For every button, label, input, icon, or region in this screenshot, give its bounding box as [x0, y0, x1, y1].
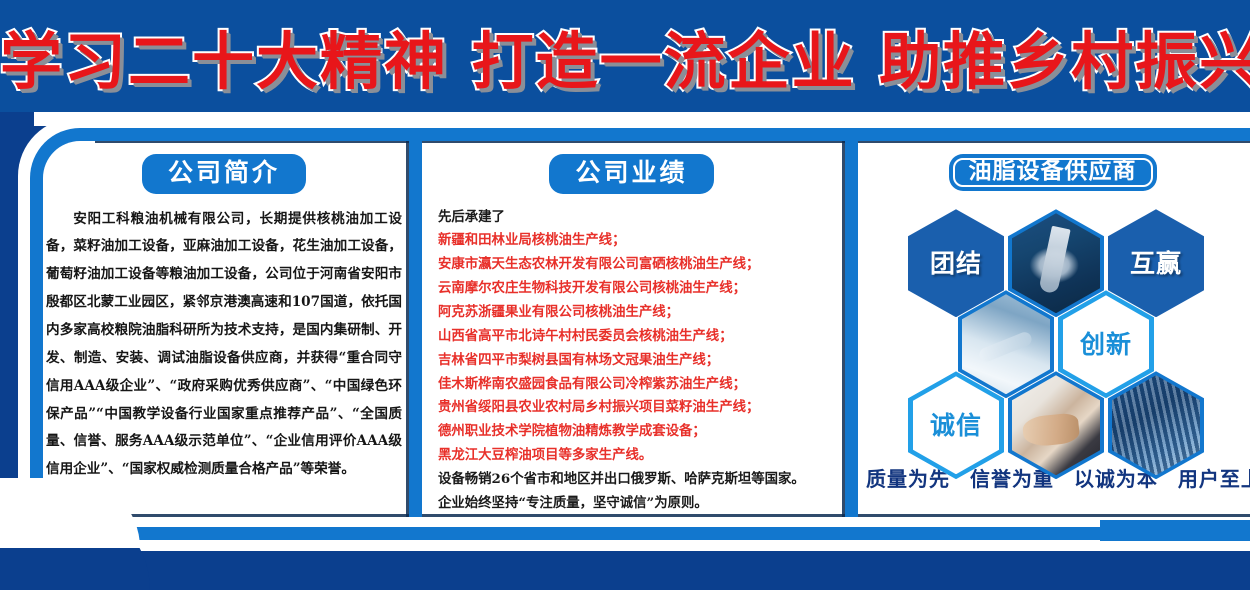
performance-item: 黑龙江大豆榨油项目等多家生产线。 — [438, 444, 835, 468]
hexagon-grid: 团结 互赢 创新 诚信 — [860, 203, 1245, 449]
performance-item: 安康市瀛天生态农林开发有限公司富硒核桃油生产线； — [438, 253, 835, 277]
frame-shadow-top — [95, 141, 1250, 143]
company-profile-badge-wrap: 公司简介 — [44, 154, 404, 194]
supplier-badge-wrap: 油脂设备供应商 — [860, 154, 1245, 191]
blue-accent-bottom-extension — [1100, 520, 1250, 542]
bottom-navy-strip — [0, 551, 1250, 590]
performance-item: 德州职业技术学院植物油精炼教学成套设备； — [438, 420, 835, 444]
panel-company-performance: 公司业绩 先后承建了 新疆和田林业局核桃油生产线； 安康市瀛天生态农林开发有限公… — [424, 154, 839, 510]
slogan-part-1: 质量为先 — [866, 467, 950, 491]
panel-supplier-values: 油脂设备供应商 团结 互赢 创新 诚信 — [860, 154, 1245, 510]
header-banner: 学习二十大精神 打造一流企业 助推乡村振兴 — [0, 0, 1250, 112]
supplier-badge: 油脂设备供应商 — [949, 154, 1157, 191]
white-card-top-extension — [34, 112, 1250, 126]
panel-company-profile: 公司简介 安阳工科粮油机械有限公司，长期提供核桃油加工设备，菜籽油加工设备，亚麻… — [44, 154, 404, 510]
company-performance-badge: 公司业绩 — [549, 154, 713, 194]
hex-label-huying: 互赢 — [1130, 251, 1182, 276]
performance-footer: 企业始终坚持“专注质量，坚守诚信”为原则。 — [438, 492, 835, 516]
performance-item: 山西省高平市北诗午村村民委员会核桃油生产线； — [438, 325, 835, 349]
skyscraper-image — [1112, 375, 1200, 475]
slogan-part-4: 用户至上 — [1178, 467, 1250, 491]
performance-item: 云南摩尔农庄生物科技开发有限公司核桃油生产线； — [438, 277, 835, 301]
performance-list: 先后承建了 新疆和田林业局核桃油生产线； 安康市瀛天生态农林开发有限公司富硒核桃… — [438, 206, 835, 516]
rocket-launch-image — [962, 294, 1050, 394]
performance-item: 贵州省绥阳县农业农村局乡村振兴项目菜籽油生产线； — [438, 396, 835, 420]
hex-label-chuangxin: 创新 — [1080, 332, 1132, 357]
performance-item: 吉林省四平市梨树县国有林场文冠果油生产线； — [438, 349, 835, 373]
performance-footer: 设备畅销26个省市和地区并出口俄罗斯、哈萨克斯坦等国家。 — [438, 468, 835, 492]
company-profile-body: 安阳工科粮油机械有限公司，长期提供核桃油加工设备，菜籽油加工设备，亚麻油加工设备… — [46, 206, 402, 485]
panel-divider-left — [409, 141, 422, 517]
header-title: 学习二十大精神 打造一流企业 助推乡村振兴 — [0, 11, 1250, 101]
bottom-white-strip — [0, 541, 1250, 551]
performance-item: 阿克苏浙疆果业有限公司核桃油生产线； — [438, 301, 835, 325]
hex-label-chengxin: 诚信 — [930, 413, 982, 438]
aircraft-carrier-image — [1012, 213, 1100, 313]
performance-item: 新疆和田林业局核桃油生产线； — [438, 229, 835, 253]
hex-label-tuanjie: 团结 — [930, 251, 982, 276]
panel-divider-right — [845, 141, 858, 517]
company-performance-badge-wrap: 公司业绩 — [424, 154, 839, 194]
handshake-image — [1012, 375, 1100, 475]
poster-root: 学习二十大精神 打造一流企业 助推乡村振兴 公司简介 安阳工科粮油机械有限公司，… — [0, 0, 1250, 590]
performance-item: 佳木斯桦南农盛园食品有限公司冷榨紫苏油生产线； — [438, 373, 835, 397]
company-profile-badge: 公司简介 — [142, 154, 306, 194]
performance-lead: 先后承建了 — [438, 206, 835, 230]
